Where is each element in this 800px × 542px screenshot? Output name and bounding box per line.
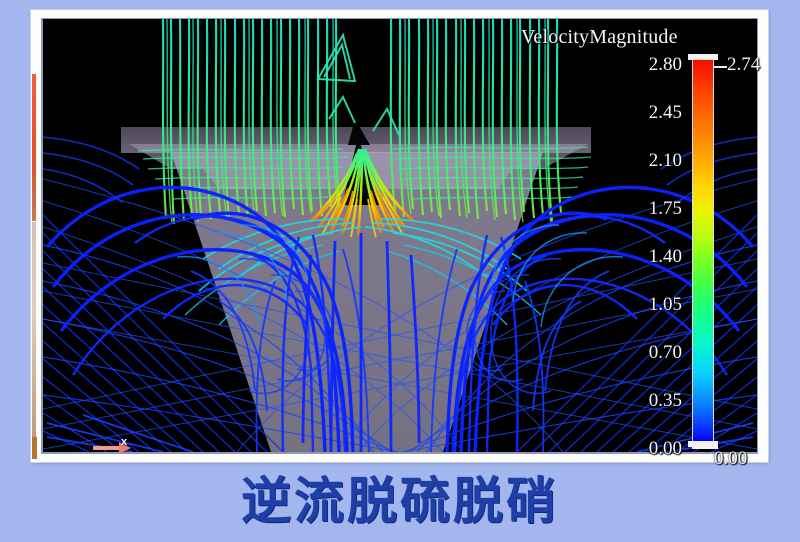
scalar-bar-max-tick: [714, 66, 727, 68]
scalar-bar-range-max: 2.74: [727, 54, 760, 76]
tick-label-4: 1.40: [649, 246, 682, 268]
scalar-bar-range-min: 0.00: [714, 448, 747, 470]
axis-label-x: x: [121, 436, 127, 448]
tick-label-6: 0.70: [649, 342, 682, 364]
window-edge-stripe-top: [32, 74, 36, 221]
tick-label-2: 2.10: [649, 150, 682, 172]
scalar-bar-gradient[interactable]: [692, 59, 714, 442]
tick-label-8: 0.00: [649, 438, 682, 460]
tick-label-0: 2.80: [649, 54, 682, 76]
axis-triad: x: [93, 434, 139, 452]
figure-caption: 逆流脱硫脱硝: [0, 470, 800, 532]
tick-label-5: 1.05: [649, 294, 682, 316]
window-edge-stripe-mid: [32, 222, 36, 437]
tick-label-3: 1.75: [649, 198, 682, 220]
tick-label-1: 2.45: [649, 102, 682, 124]
visualization-page: x VelocityMagnitude 2.80 2.45 2.10 1.75 …: [0, 0, 800, 542]
window-edge-stripe-bottom: [32, 437, 37, 459]
scalar-bar-title: VelocityMagnitude: [521, 26, 678, 49]
scalar-bar-tick-labels: 2.80 2.45 2.10 1.75 1.40 1.05 0.70 0.35 …: [612, 52, 682, 452]
tick-label-7: 0.35: [649, 390, 682, 412]
